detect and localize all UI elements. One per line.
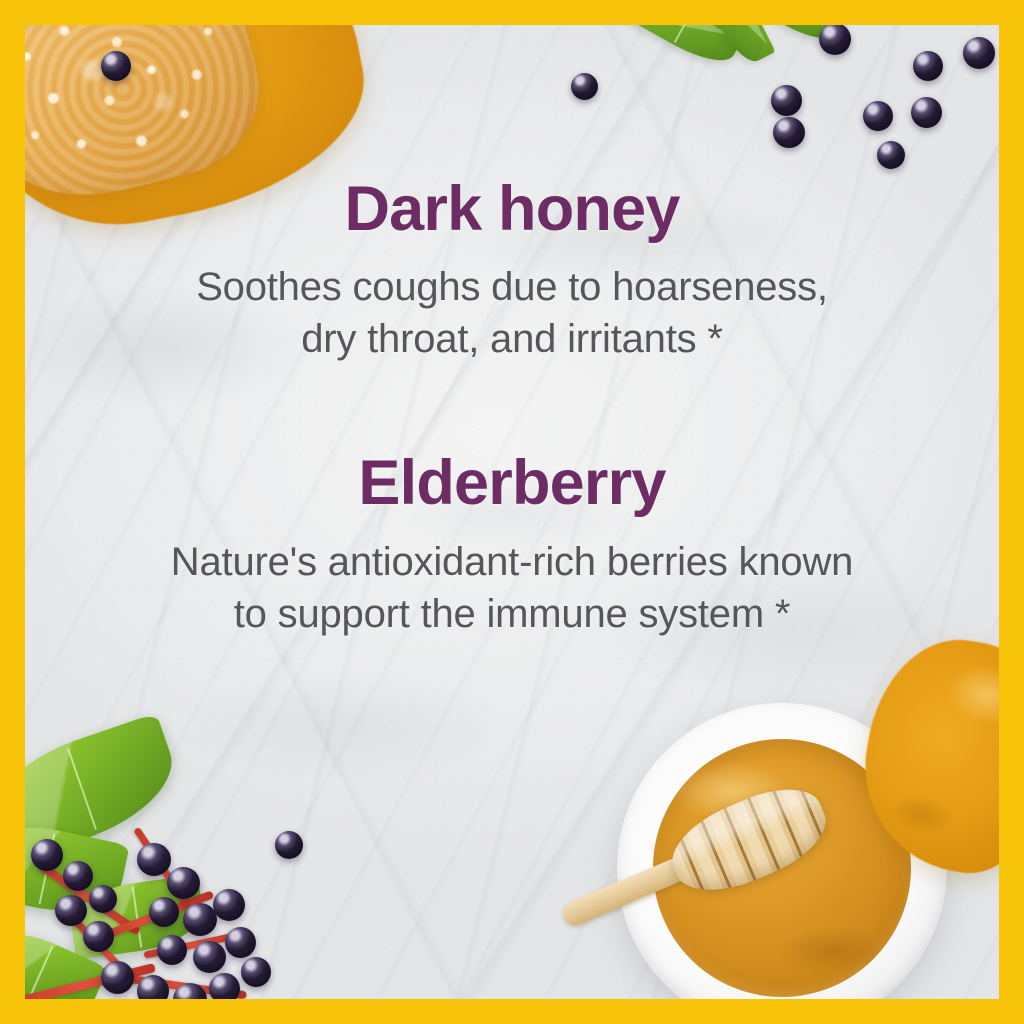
elderberry-icon xyxy=(83,921,114,952)
elderberry-icon xyxy=(863,101,893,131)
elderberry-icon xyxy=(911,97,942,128)
elderberry-icon xyxy=(101,961,134,994)
marble-background: Dark honey Soothes coughs due to hoarsen… xyxy=(25,25,999,999)
elderberry-icon xyxy=(225,927,256,958)
product-benefit-card: Dark honey Soothes coughs due to hoarsen… xyxy=(0,0,1024,1024)
elderberry-icon xyxy=(193,941,226,973)
elderberry-icon xyxy=(877,141,905,169)
elderberry-icon xyxy=(963,37,995,69)
elderberry-icon xyxy=(55,895,87,926)
section-title-elderberry: Elderberry xyxy=(69,451,955,515)
elderberry-icon xyxy=(571,73,598,100)
benefit-line: Nature's antioxidant-rich berries known xyxy=(69,536,955,588)
elderberry-icon xyxy=(213,889,245,921)
elderberry-cluster-icon xyxy=(25,735,357,999)
elderberry-icon xyxy=(157,935,187,965)
benefit-line: to support the immune system * xyxy=(69,588,955,640)
benefit-copy: Dark honey Soothes coughs due to hoarsen… xyxy=(25,177,999,640)
elderberry-icon xyxy=(183,903,217,936)
elderberry-icon xyxy=(773,117,805,148)
elderberry-icon xyxy=(771,85,802,116)
benefit-block-elderberry: Elderberry Nature's antioxidant-rich ber… xyxy=(69,451,955,639)
benefit-line: Soothes coughs due to hoarseness, xyxy=(69,261,955,313)
elderberry-icon xyxy=(137,975,169,999)
benefit-block-dark-honey: Dark honey Soothes coughs due to hoarsen… xyxy=(69,177,955,365)
elderberry-icon xyxy=(101,51,131,81)
elderberry-icon xyxy=(913,51,943,81)
elderberry-icon xyxy=(149,897,179,927)
elderberry-icon xyxy=(31,839,63,871)
elderberry-icon xyxy=(137,843,171,876)
benefit-line: dry throat, and irritants * xyxy=(69,313,955,365)
elderberry-icon xyxy=(89,885,117,913)
elderberry-icon xyxy=(63,861,93,891)
benefit-description-dark-honey: Soothes coughs due to hoarseness, dry th… xyxy=(69,261,955,365)
benefit-description-elderberry: Nature's antioxidant-rich berries known … xyxy=(69,536,955,640)
elderberry-icon xyxy=(209,973,240,999)
elderberry-icon xyxy=(167,867,200,899)
page-title: Dark honey xyxy=(69,177,955,241)
elderberry-icon xyxy=(241,957,271,987)
